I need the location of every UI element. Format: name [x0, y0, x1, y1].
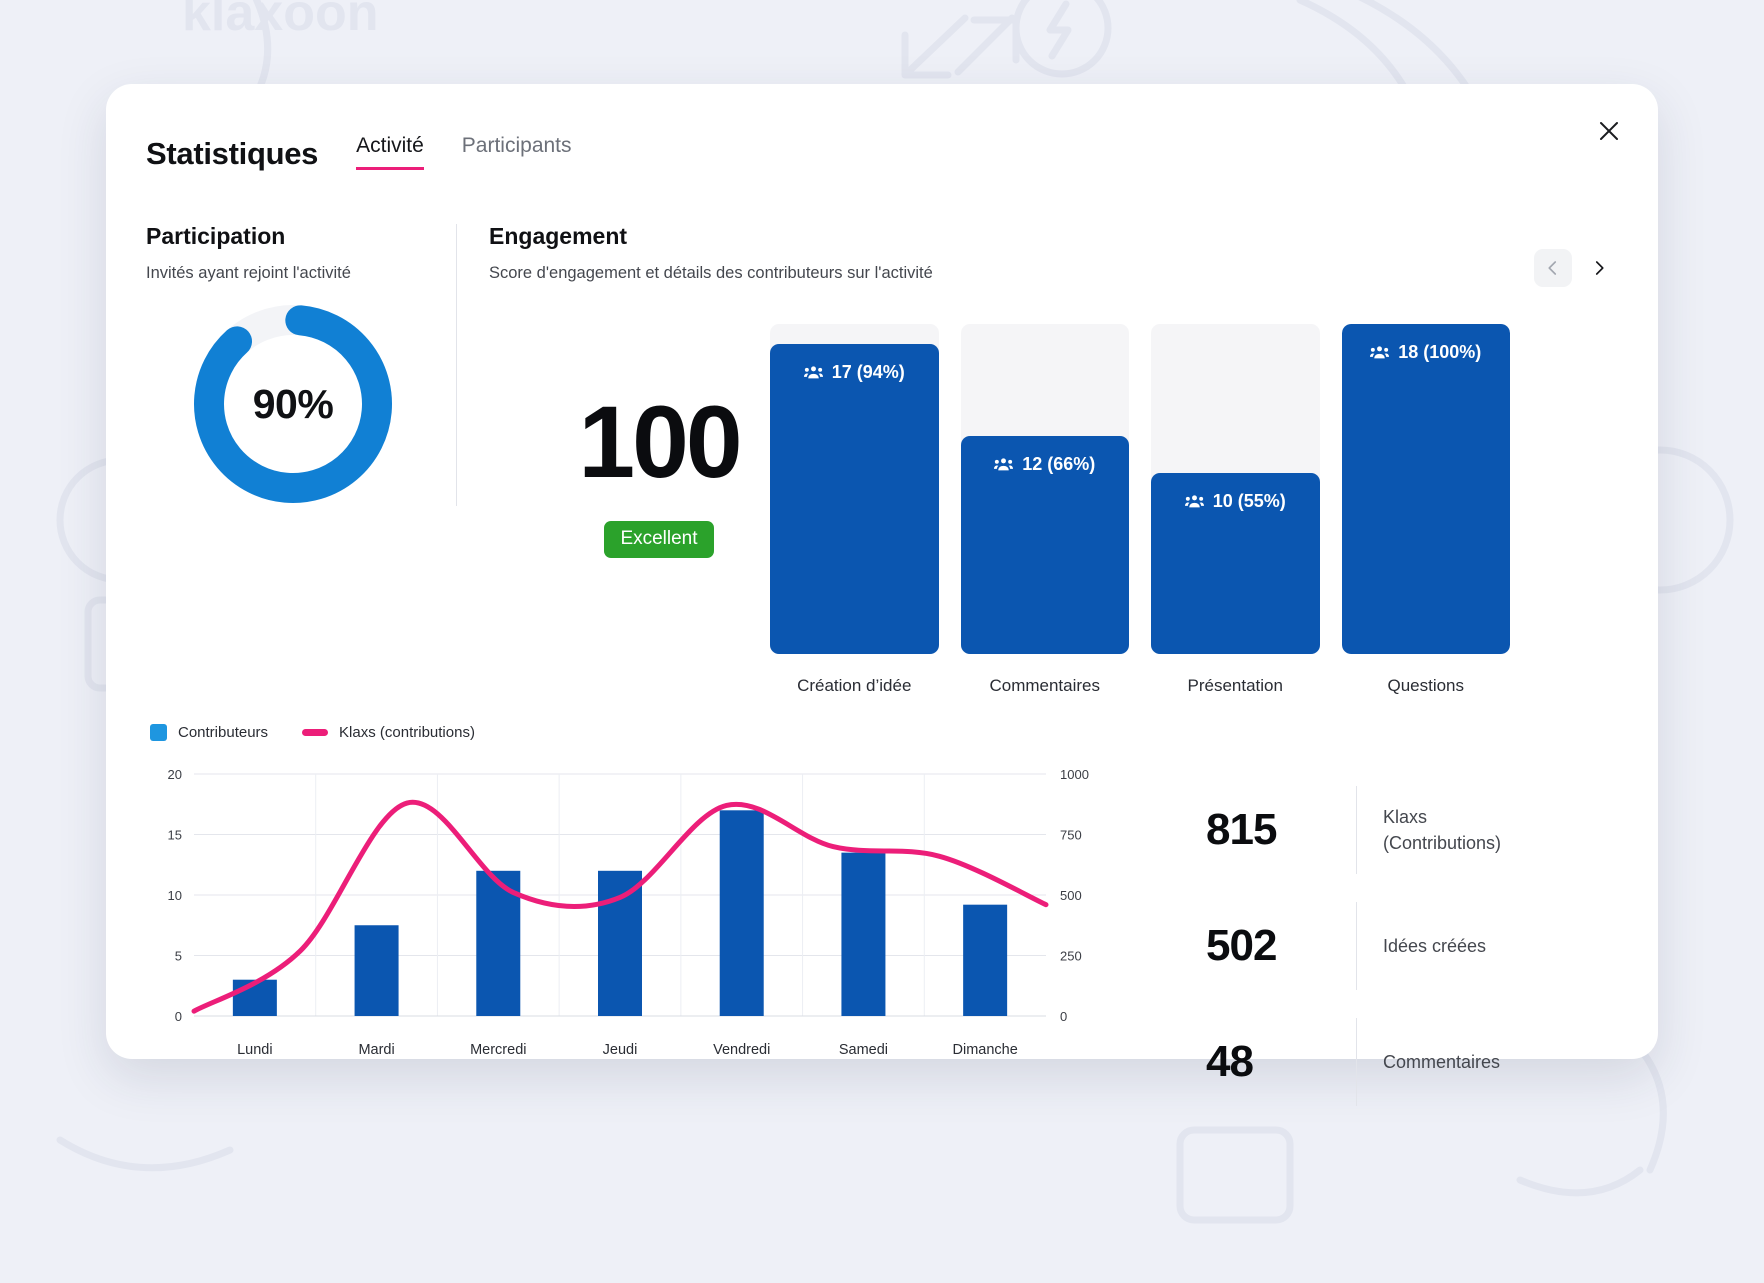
svg-text:0: 0 — [1060, 1009, 1067, 1024]
engagement-bar-4: 18 (100%) — [1342, 324, 1511, 654]
people-group-icon — [1185, 494, 1204, 509]
chart-bar — [841, 853, 885, 1016]
page-title: Statistiques — [146, 136, 318, 172]
engagement-bar-1: 17 (94%) — [770, 324, 939, 654]
engagement-bar-category: Création d’idée — [770, 676, 939, 696]
chart-x-label: Lundi — [237, 1042, 272, 1058]
engagement-bar-category: Questions — [1342, 676, 1511, 696]
kpi-row: 815Klaxs(Contributions) — [1206, 772, 1616, 888]
chart-x-label: Samedi — [839, 1042, 888, 1058]
chart-x-label: Dimanche — [953, 1042, 1018, 1058]
engagement-pager — [1534, 249, 1618, 287]
svg-text:klaxoon: klaxoon — [182, 0, 379, 42]
engagement-subtitle: Score d'engagement et détails des contri… — [489, 264, 933, 283]
combo-chart-svg: 0510152002505007501000LundiMardiMercredi… — [146, 766, 1106, 1066]
svg-text:250: 250 — [1060, 949, 1082, 964]
chevron-left-icon — [1544, 259, 1562, 277]
section-divider — [456, 224, 457, 506]
chevron-right-icon — [1590, 259, 1608, 277]
chart-x-label: Mardi — [358, 1042, 394, 1058]
svg-text:0: 0 — [175, 1009, 182, 1024]
engagement-bar-fill: 12 (66%) — [961, 436, 1130, 654]
legend-swatch-line — [302, 729, 328, 736]
engagement-title: Engagement — [489, 223, 933, 250]
people-group-icon — [804, 365, 823, 380]
svg-text:20: 20 — [168, 767, 182, 782]
kpi-value: 48 — [1206, 1037, 1356, 1087]
chart-bar — [963, 905, 1007, 1016]
engagement-bar-track: 18 (100%) — [1342, 324, 1511, 654]
engagement-bar-3: 10 (55%) — [1151, 324, 1320, 654]
activity-chart-section: Contributeurs Klaxs (contributions) 0510… — [146, 724, 1618, 1031]
people-group-icon — [994, 457, 1013, 472]
combo-chart: 0510152002505007501000LundiMardiMercredi… — [146, 766, 1106, 1066]
engagement-bar-value: 10 (55%) — [1185, 491, 1286, 512]
engagement-bar-category: Commentaires — [961, 676, 1130, 696]
chart-x-label: Mercredi — [470, 1042, 526, 1058]
kpi-value: 502 — [1206, 921, 1356, 971]
svg-text:1000: 1000 — [1060, 767, 1089, 782]
kpi-label: Idées créées — [1357, 933, 1486, 959]
engagement-bar-track: 10 (55%) — [1151, 324, 1320, 654]
engagement-bar-fill: 10 (55%) — [1151, 473, 1320, 655]
chart-bar — [720, 810, 764, 1016]
legend-label-klaxs: Klaxs (contributions) — [339, 724, 475, 741]
legend-item-contributeurs: Contributeurs — [150, 724, 268, 741]
engagement-score: 100 Excellent — [514, 394, 804, 558]
legend-label-contributeurs: Contributeurs — [178, 724, 268, 741]
chart-x-label: Jeudi — [603, 1042, 638, 1058]
tab-activite[interactable]: Activité — [356, 134, 424, 170]
kpi-label: Commentaires — [1357, 1049, 1500, 1075]
kpi-value: 815 — [1206, 805, 1356, 855]
pager-prev-button[interactable] — [1534, 249, 1572, 287]
donut-percent-label: 90% — [148, 284, 438, 524]
engagement-bar-track: 12 (66%) — [961, 324, 1130, 654]
engagement-bar-value: 12 (66%) — [994, 454, 1095, 475]
engagement-bars: 17 (94%)12 (66%)10 (55%)18 (100%) Créati… — [770, 324, 1510, 696]
engagement-bar-fill: 18 (100%) — [1342, 324, 1511, 654]
engagement-bar-categories: Création d’idéeCommentairesPrésentationQ… — [770, 654, 1510, 696]
kpi-row: 502Idées créées — [1206, 888, 1616, 1004]
legend-item-klaxs: Klaxs (contributions) — [302, 724, 475, 741]
engagement-bar-value: 18 (100%) — [1370, 342, 1481, 363]
participation-donut: 90% — [148, 284, 438, 524]
close-icon — [1597, 119, 1621, 143]
engagement-bar-value: 17 (94%) — [804, 362, 905, 383]
svg-text:15: 15 — [168, 828, 182, 843]
svg-text:750: 750 — [1060, 828, 1082, 843]
people-group-icon — [1370, 345, 1389, 360]
participation-title: Participation — [146, 223, 436, 250]
participation-section: Participation Invités ayant rejoint l'ac… — [146, 223, 436, 283]
kpi-row: 48Commentaires — [1206, 1004, 1616, 1120]
modal-header: Statistiques Activité Participants — [146, 134, 572, 172]
engagement-bar-category: Présentation — [1151, 676, 1320, 696]
statistics-modal: Statistiques Activité Participants Parti… — [106, 84, 1658, 1059]
participation-subtitle: Invités ayant rejoint l'activité — [146, 264, 436, 283]
chart-bar — [598, 871, 642, 1016]
chart-bar — [355, 925, 399, 1016]
score-value: 100 — [514, 394, 804, 491]
engagement-bar-fill: 17 (94%) — [770, 344, 939, 654]
close-button[interactable] — [1588, 110, 1630, 152]
svg-text:5: 5 — [175, 949, 182, 964]
legend-swatch-bar — [150, 724, 167, 741]
kpi-panel: 815Klaxs(Contributions)502Idées créées48… — [1206, 772, 1616, 1120]
engagement-bar-track: 17 (94%) — [770, 324, 939, 654]
chart-x-label: Vendredi — [713, 1042, 770, 1058]
kpi-label: Klaxs(Contributions) — [1357, 804, 1501, 856]
svg-text:500: 500 — [1060, 888, 1082, 903]
engagement-bar-2: 12 (66%) — [961, 324, 1130, 654]
engagement-bars-row: 17 (94%)12 (66%)10 (55%)18 (100%) — [770, 324, 1510, 654]
chart-legend: Contributeurs Klaxs (contributions) — [150, 724, 1618, 741]
pager-next-button[interactable] — [1580, 249, 1618, 287]
tab-participants[interactable]: Participants — [462, 134, 572, 170]
status-badge: Excellent — [604, 521, 713, 558]
engagement-section: Engagement Score d'engagement et détails… — [489, 223, 933, 283]
svg-text:10: 10 — [168, 888, 182, 903]
